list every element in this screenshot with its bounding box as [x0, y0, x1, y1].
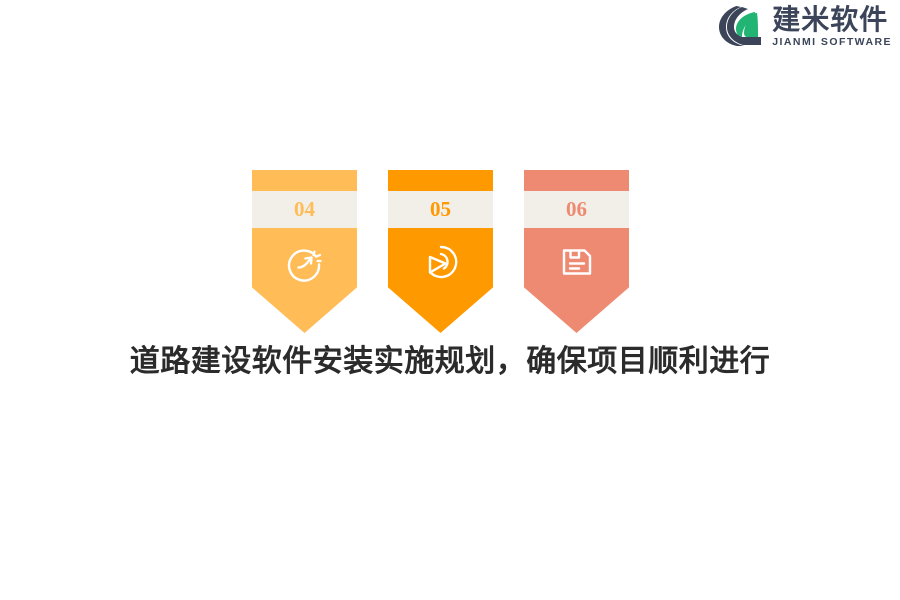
growth-arrow-circle-icon: [252, 242, 357, 282]
page-title: 道路建设软件安装实施规划，确保项目顺利进行: [0, 336, 900, 380]
save-floppy-disk-icon: [524, 242, 629, 282]
banner-05-number: 05: [430, 199, 451, 220]
banner-06-number-band: 06: [524, 191, 629, 228]
brand-name-cn: 建米软件: [772, 5, 888, 34]
jianmi-leaf-logo-icon: [718, 4, 766, 48]
banner-05-number-band: 05: [388, 191, 493, 228]
banner-06-number: 06: [566, 199, 587, 220]
brand-name-en: JIANMI SOFTWARE: [772, 37, 892, 48]
brand-logo: 建米软件 JIANMI SOFTWARE: [718, 4, 892, 48]
brand-text-block: 建米软件 JIANMI SOFTWARE: [772, 5, 892, 48]
banner-04[interactable]: 04: [252, 170, 357, 333]
banner-04-number: 04: [294, 199, 315, 220]
play-forward-circle-icon: [388, 242, 493, 282]
banner-row: 04 05 06: [252, 170, 629, 333]
banner-06[interactable]: 06: [524, 170, 629, 333]
banner-05[interactable]: 05: [388, 170, 493, 333]
banner-04-number-band: 04: [252, 191, 357, 228]
